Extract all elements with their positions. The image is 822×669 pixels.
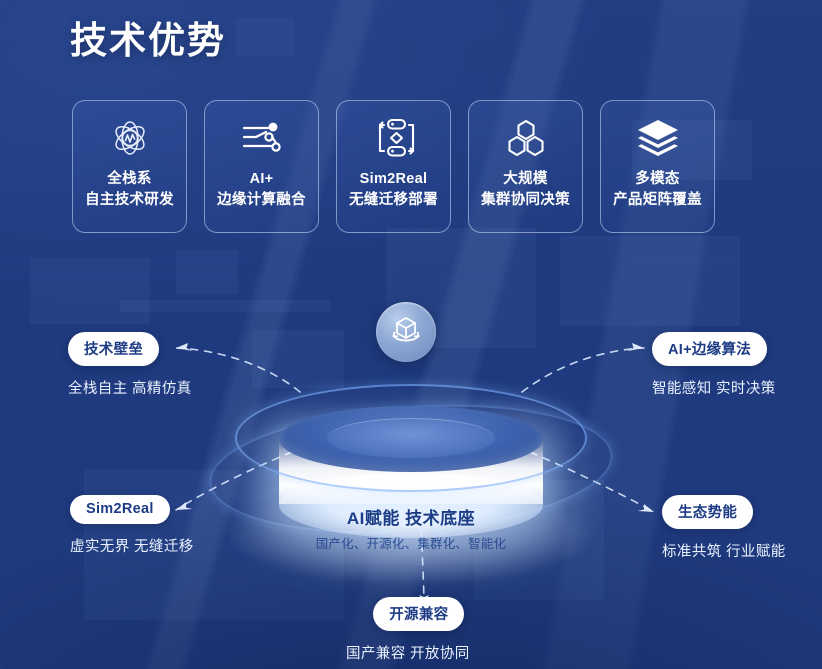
node-caption: 智能感知 实时决策 bbox=[652, 377, 776, 398]
node-eco-potential[interactable]: 生态势能 标准共筑 行业赋能 bbox=[662, 495, 786, 561]
node-open-source[interactable]: 开源兼容 国产兼容 开放协同 bbox=[368, 597, 470, 663]
node-caption: 全栈自主 高精仿真 bbox=[68, 377, 192, 398]
architecture-diagram: AI赋能 技术底座 国产化、开源化、集群化、智能化 技术壁垒 全栈自主 高精仿真 bbox=[0, 270, 822, 669]
card-label-line1: 大规模 bbox=[481, 169, 570, 190]
technical-advantages-slide: 技术优势 全栈系 自主技术研发 bbox=[0, 0, 822, 669]
feature-card-sim2real[interactable]: Sim2Real 无缝迁移部署 bbox=[336, 100, 451, 233]
node-caption: 国产兼容 开放协同 bbox=[346, 642, 470, 663]
page-title: 技术优势 bbox=[70, 10, 226, 64]
platform-title: AI赋能 技术底座 bbox=[243, 504, 579, 529]
hexagons-icon bbox=[504, 107, 548, 169]
card-label-line1: 全栈系 bbox=[85, 169, 174, 190]
card-label-line2: 边缘计算融合 bbox=[217, 190, 306, 211]
layers-icon bbox=[635, 107, 681, 169]
atom-icon bbox=[107, 107, 153, 169]
feature-card-large-scale[interactable]: 大规模 集群协同决策 bbox=[468, 100, 583, 233]
technology-platform: AI赋能 技术底座 国产化、开源化、集群化、智能化 bbox=[243, 352, 579, 542]
card-label-line2: 自主技术研发 bbox=[85, 190, 174, 211]
node-caption: 标准共筑 行业赋能 bbox=[662, 540, 786, 561]
cube-rotate-icon bbox=[389, 313, 423, 352]
node-caption: 虚实无界 无缝迁移 bbox=[70, 535, 194, 556]
card-label-line2: 无缝迁移部署 bbox=[349, 190, 438, 211]
feature-card-multimodal[interactable]: 多模态 产品矩阵覆盖 bbox=[600, 100, 715, 233]
node-ai-edge-algo[interactable]: AI+边缘算法 智能感知 实时决策 bbox=[652, 332, 776, 398]
feature-card-ai-edge[interactable]: AI+ 边缘计算融合 bbox=[204, 100, 319, 233]
feature-card-row: 全栈系 自主技术研发 AI+ bbox=[72, 100, 715, 233]
orbit-ring-inner bbox=[235, 384, 587, 492]
node-pill[interactable]: 开源兼容 bbox=[373, 597, 464, 631]
node-tech-barrier[interactable]: 技术壁垒 全栈自主 高精仿真 bbox=[68, 332, 192, 398]
circuit-icon bbox=[239, 107, 285, 169]
feature-card-full-stack[interactable]: 全栈系 自主技术研发 bbox=[72, 100, 187, 233]
card-label-line2: 产品矩阵覆盖 bbox=[613, 190, 702, 211]
node-pill[interactable]: Sim2Real bbox=[70, 495, 170, 524]
card-label-line1: 多模态 bbox=[613, 169, 702, 190]
flowchart-icon bbox=[371, 107, 417, 169]
card-label-line1: AI+ bbox=[217, 169, 306, 190]
node-pill[interactable]: 技术壁垒 bbox=[68, 332, 159, 366]
card-label-line2: 集群协同决策 bbox=[481, 190, 570, 211]
center-badge[interactable] bbox=[376, 302, 436, 362]
platform-subtitle: 国产化、开源化、集群化、智能化 bbox=[243, 533, 579, 552]
node-sim2real[interactable]: Sim2Real 虚实无界 无缝迁移 bbox=[70, 495, 194, 556]
node-pill[interactable]: AI+边缘算法 bbox=[652, 332, 767, 366]
platform-text: AI赋能 技术底座 国产化、开源化、集群化、智能化 bbox=[243, 504, 579, 552]
node-pill[interactable]: 生态势能 bbox=[662, 495, 753, 529]
card-label-line1: Sim2Real bbox=[349, 169, 438, 190]
